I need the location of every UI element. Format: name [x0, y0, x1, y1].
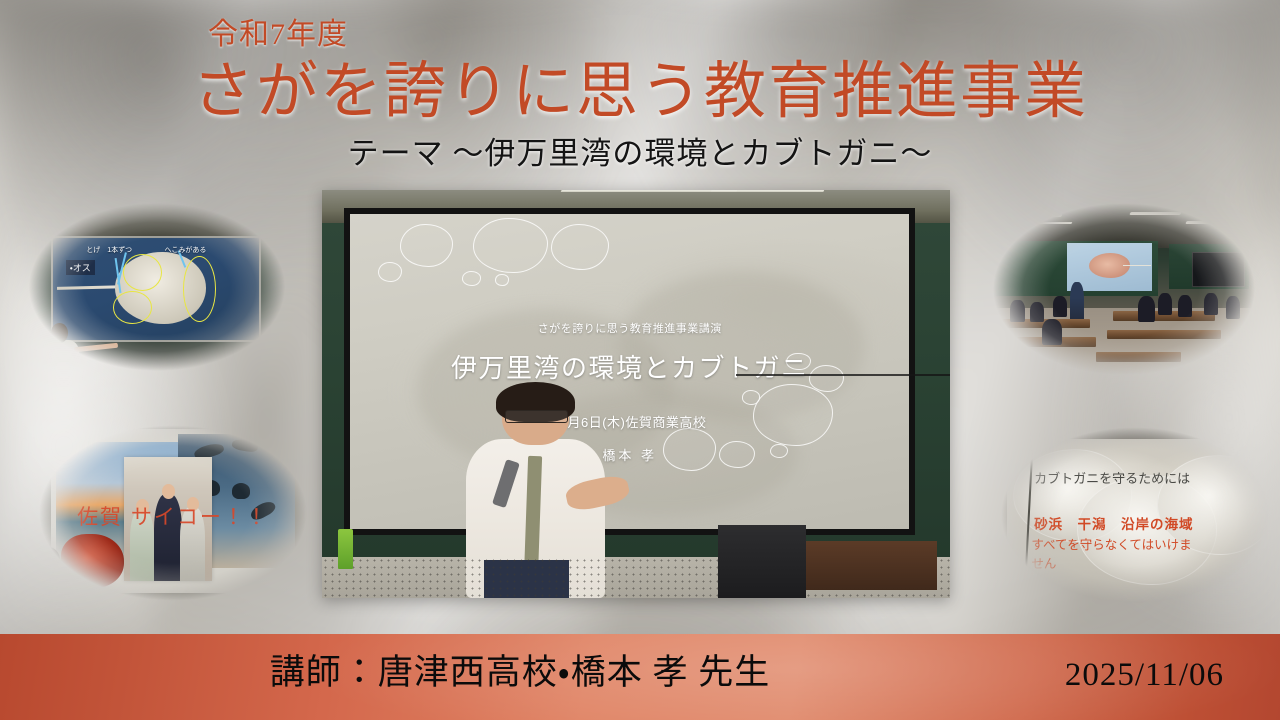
- wall-monitor: [1192, 252, 1245, 287]
- poster-header: 令和7年度 さがを誇りに思う教育推進事業 テーマ ～伊万里湾の環境とカブトガニ～: [0, 0, 1280, 171]
- footer-bar: 講師：唐津西高校・橋本 孝 先生 2025/11/06: [0, 634, 1280, 720]
- audience-head: [37, 547, 60, 574]
- oval-photo-horseshoe-crab-male: ・オス とげ 1本ずつ へこみがある: [18, 196, 296, 378]
- bubble-icon: [495, 274, 508, 285]
- main-lecture-photo: さがを誇りに思う教育推進事業講演 伊万里湾の環境とカブトガニ 11月6日(木)佐…: [322, 190, 950, 598]
- student-figure: [1010, 300, 1024, 322]
- ceiling-light-icon: [1186, 221, 1244, 224]
- student-figure: [1204, 293, 1218, 315]
- student-figure: [1030, 302, 1044, 322]
- bird-icon: [231, 437, 258, 452]
- slide-presenter: 橋本 孝: [350, 445, 909, 464]
- bubble-icon: [551, 224, 609, 270]
- conservation-heading: カブトガニを守るためには: [1034, 468, 1190, 487]
- annotation-left: とげ 1本ずつ: [86, 245, 132, 255]
- student-figure: [1053, 296, 1067, 316]
- ceiling-light-icon: [711, 190, 825, 192]
- projection-screen-frame: さがを誇りに思う教育推進事業講演 伊万里湾の環境とカブトガニ 11月6日(木)佐…: [344, 208, 915, 534]
- bubble-icon: [473, 218, 548, 273]
- projected-slide: カブトガニを守るためには 砂浜 干潟 沿岸の海域 すべてを守らなくてはいけま せ…: [1007, 439, 1274, 602]
- student-figure: [1158, 293, 1172, 315]
- event-date: 2025/11/06: [1065, 656, 1224, 696]
- slide-subtitle: さがを誇りに思う教育推進事業講演: [350, 320, 909, 336]
- conservation-keywords: 砂浜 干潟 沿岸の海域: [1034, 513, 1194, 533]
- projection-screen: さがを誇りに思う教育推進事業講演 伊万里湾の環境とカブトガニ 11月6日(木)佐…: [350, 214, 909, 528]
- tea-bottle: [338, 529, 353, 570]
- audience-body: [28, 570, 74, 608]
- ceiling-light-icon: [1027, 222, 1073, 224]
- student-figure: [1226, 296, 1240, 318]
- ceiling: [18, 196, 296, 236]
- presenter-figure: [1070, 282, 1084, 323]
- desk-row: [1107, 330, 1221, 339]
- presenter-body: [43, 340, 79, 378]
- era-label: 令和7年度: [208, 20, 1280, 50]
- ceiling-light-icon: [101, 199, 163, 201]
- highlight-ellipse: [123, 254, 162, 291]
- podium: [718, 525, 806, 598]
- gender-tag-label: ・オス: [66, 260, 95, 275]
- student-figure: [1042, 319, 1062, 345]
- conservation-body-1: すべてを守らなくてはいけま: [1031, 534, 1191, 553]
- page-title: さがを誇りに思う教育推進事業: [0, 60, 1280, 125]
- oval-photo-conservation-slide: カブトガニを守るためには 砂浜 干潟 沿岸の海域 すべてを守らなくてはいけま せ…: [990, 420, 1280, 610]
- glasses-icon: [505, 410, 567, 423]
- highlight-ellipse: [183, 256, 216, 321]
- projected-slide: 佐賀 サイコー！！: [51, 429, 295, 592]
- crab-tail: [1123, 265, 1150, 266]
- theme-label: テーマ ～伊万里湾の環境とカブトガニ～: [0, 137, 1280, 171]
- slide-caption: 佐賀 サイコー！！: [51, 501, 295, 531]
- student-figure: [1138, 296, 1155, 322]
- projected-slide: ・オス とげ 1本ずつ へこみがある: [51, 236, 261, 342]
- ceiling-light-icon: [1004, 214, 1062, 217]
- oval-photo-classroom-wide: [982, 196, 1266, 382]
- conservation-body-2: せん: [1031, 553, 1056, 572]
- student-figure: [1178, 295, 1192, 317]
- bubble-icon: [400, 224, 452, 267]
- bubble-icon: [378, 262, 402, 283]
- bubble-icon: [462, 271, 481, 286]
- poster-canvas: 令和7年度 さがを誇りに思う教育推進事業 テーマ ～伊万里湾の環境とカブトガニ～: [0, 0, 1280, 720]
- ceiling-light-icon: [168, 199, 230, 201]
- oval-photo-saga-collage: 佐賀 サイコー！！: [28, 418, 318, 608]
- slide-date: 11月6日(木)佐賀商業高校: [350, 412, 909, 431]
- annotation-right: へこみがある: [164, 245, 206, 255]
- audience-head: [1002, 568, 1022, 593]
- highlight-ellipse: [113, 291, 152, 324]
- ceiling-light-icon: [1129, 212, 1181, 215]
- desk-row: [1096, 352, 1181, 361]
- bird-icon: [232, 483, 251, 499]
- slide-title: 伊万里湾の環境とカブトガニ: [350, 348, 909, 385]
